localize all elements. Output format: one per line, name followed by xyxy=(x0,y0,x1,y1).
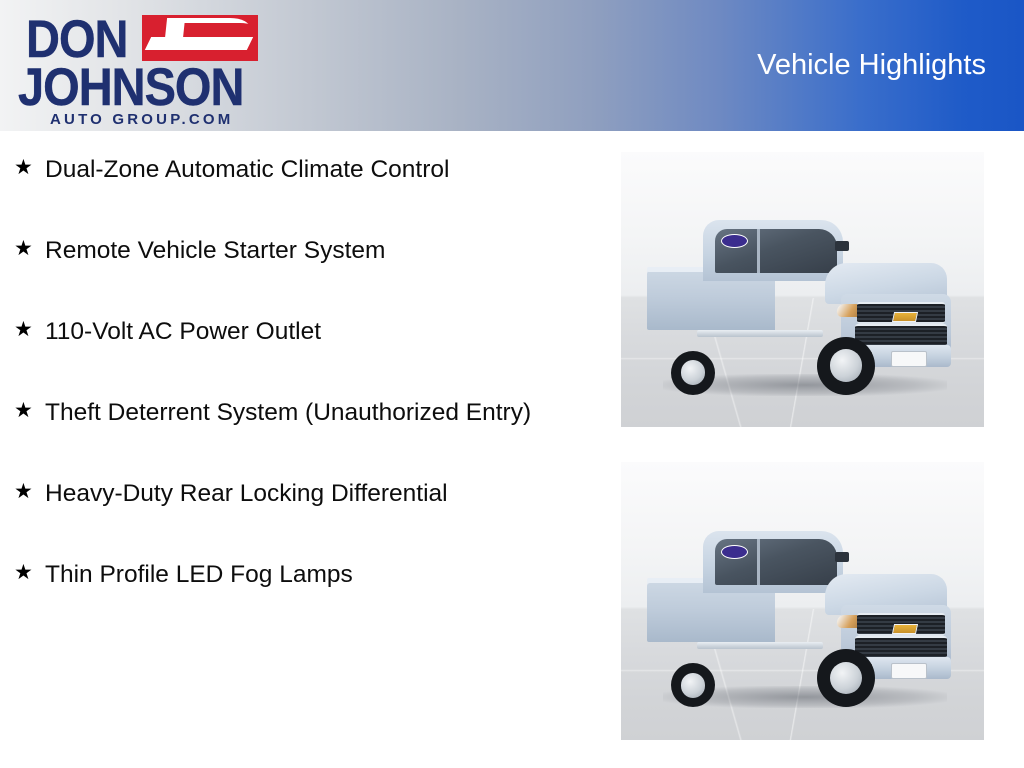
chevrolet-bowtie-icon xyxy=(892,624,918,634)
grille-lower xyxy=(855,636,947,659)
grille-lower xyxy=(855,324,947,346)
star-icon: ★ xyxy=(14,315,45,345)
page-title: Vehicle Highlights xyxy=(757,49,986,82)
list-item: ★ Heavy-Duty Rear Locking Differential xyxy=(0,477,600,511)
list-item-label: Dual-Zone Automatic Climate Control xyxy=(45,153,592,187)
vehicle-photo-front-three-quarter-1[interactable] xyxy=(621,152,984,427)
list-item: ★ Theft Deterrent System (Unauthorized E… xyxy=(0,396,600,430)
list-item: ★ 110-Volt AC Power Outlet xyxy=(0,315,600,349)
rear-wheel xyxy=(671,663,715,707)
list-item: ★ Remote Vehicle Starter System xyxy=(0,234,600,268)
list-item: ★ Dual-Zone Automatic Climate Control xyxy=(0,153,600,187)
list-item-label: Theft Deterrent System (Unauthorized Ent… xyxy=(45,396,592,430)
license-plate xyxy=(891,351,927,367)
star-icon: ★ xyxy=(14,558,45,588)
chevrolet-bowtie-icon xyxy=(892,312,918,322)
windshield-sticker xyxy=(721,234,748,248)
list-item-label: Thin Profile LED Fog Lamps xyxy=(45,558,592,592)
star-icon: ★ xyxy=(14,234,45,264)
logo-swoosh-icon xyxy=(142,15,258,61)
truck-illustration xyxy=(645,506,963,712)
running-board xyxy=(697,330,823,337)
page-header: DON JOHNSON AUTO GROUP.COM Vehicle Highl… xyxy=(0,0,1024,131)
vehicle-photo-front-three-quarter-2[interactable] xyxy=(621,462,984,740)
logo-text-johnson: JOHNSON xyxy=(18,60,243,113)
side-mirror xyxy=(835,241,849,251)
rear-wheel xyxy=(671,351,715,395)
list-item: ★ Thin Profile LED Fog Lamps xyxy=(0,558,600,592)
dealer-logo[interactable]: DON JOHNSON AUTO GROUP.COM xyxy=(10,8,260,128)
running-board xyxy=(697,642,823,649)
front-wheel xyxy=(817,649,875,707)
list-item-label: 110-Volt AC Power Outlet xyxy=(45,315,592,349)
list-item-label: Heavy-Duty Rear Locking Differential xyxy=(45,477,592,511)
star-icon: ★ xyxy=(14,396,45,426)
front-wheel xyxy=(817,337,875,395)
logo-tagline: AUTO GROUP.COM xyxy=(50,111,233,128)
truck-illustration xyxy=(645,196,963,400)
side-mirror xyxy=(835,552,849,562)
star-icon: ★ xyxy=(14,153,45,183)
vehicle-highlights-list: ★ Dual-Zone Automatic Climate Control ★ … xyxy=(0,131,600,768)
star-icon: ★ xyxy=(14,477,45,507)
windshield-sticker xyxy=(721,545,748,559)
license-plate xyxy=(891,663,927,679)
list-item-label: Remote Vehicle Starter System xyxy=(45,234,592,268)
